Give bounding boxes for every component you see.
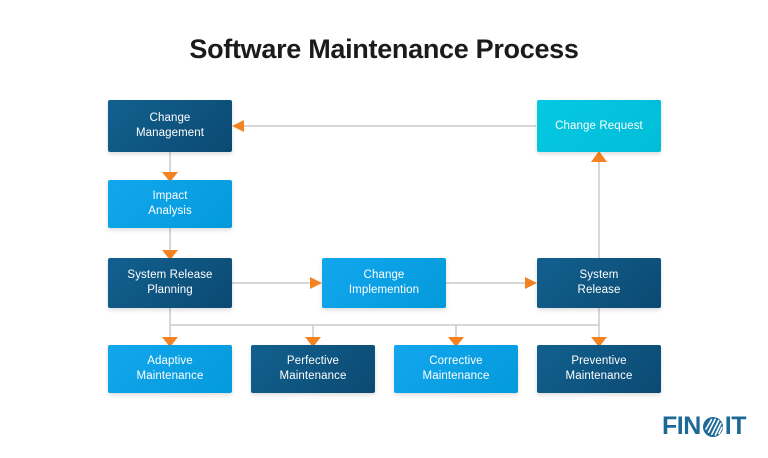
- node-preventive-maintenance-label: Preventive Maintenance: [566, 354, 633, 384]
- node-adaptive-maintenance-label: Adaptive Maintenance: [137, 354, 204, 384]
- logo-wordmark: FIN IT: [662, 412, 746, 441]
- node-change-request-label: Change Request: [555, 119, 643, 134]
- node-impact-analysis-label: Impact Analysis: [148, 189, 192, 219]
- arrowhead-right-system-release: [525, 277, 537, 289]
- node-system-release[interactable]: System Release: [537, 258, 661, 308]
- fingerprint-o-icon: [702, 416, 724, 438]
- node-change-management[interactable]: Change Management: [108, 100, 232, 152]
- node-preventive-maintenance[interactable]: Preventive Maintenance: [537, 345, 661, 393]
- node-corrective-maintenance-label: Corrective Maintenance: [423, 354, 490, 384]
- arrowhead-left-change-management: [232, 120, 244, 132]
- arrowhead-up-change-request: [591, 151, 607, 162]
- diagram-canvas: Software Maintenance Process: [0, 0, 768, 458]
- node-system-release-label: System Release: [578, 268, 621, 298]
- node-change-request[interactable]: Change Request: [537, 100, 661, 152]
- node-change-management-label: Change Management: [136, 111, 204, 141]
- logo-text-after: IT: [725, 412, 746, 441]
- arrowhead-right-change-implemention: [310, 277, 322, 289]
- logo-text-before: FIN: [662, 412, 701, 441]
- node-system-release-planning-label: System Release Planning: [127, 268, 212, 298]
- node-impact-analysis[interactable]: Impact Analysis: [108, 180, 232, 228]
- node-system-release-planning[interactable]: System Release Planning: [108, 258, 232, 308]
- node-perfective-maintenance[interactable]: Perfective Maintenance: [251, 345, 375, 393]
- node-corrective-maintenance[interactable]: Corrective Maintenance: [394, 345, 518, 393]
- node-perfective-maintenance-label: Perfective Maintenance: [280, 354, 347, 384]
- finoit-logo: FIN IT: [662, 412, 746, 440]
- page-title: Software Maintenance Process: [0, 34, 768, 65]
- node-adaptive-maintenance[interactable]: Adaptive Maintenance: [108, 345, 232, 393]
- node-change-implemention[interactable]: Change Implemention: [322, 258, 446, 308]
- node-change-implemention-label: Change Implemention: [349, 268, 419, 298]
